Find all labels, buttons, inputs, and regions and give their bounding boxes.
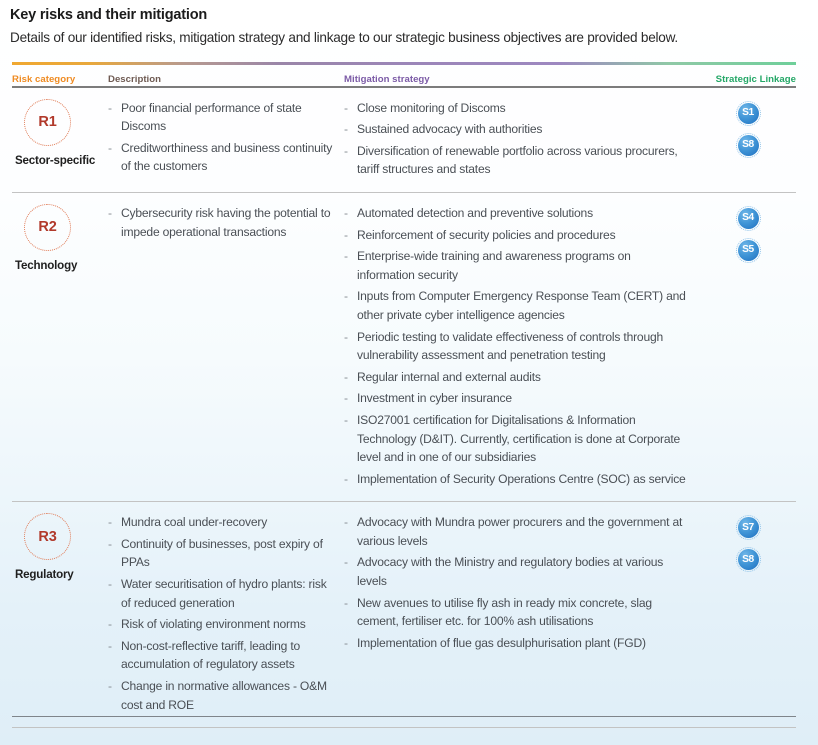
- bullet-dash-icon: -: [108, 637, 112, 656]
- bullet-dash-icon: -: [108, 139, 112, 158]
- bullet-dash-icon: -: [344, 368, 348, 387]
- list-item-text: Regular internal and external audits: [357, 370, 541, 384]
- column-header-strategic-linkage: Strategic Linkage: [700, 74, 796, 86]
- list-item: -Water securitisation of hydro plants: r…: [108, 575, 338, 612]
- strategic-objective-badge[interactable]: S8: [736, 547, 761, 572]
- risk-category-label: Technology: [14, 258, 108, 273]
- list-item-text: Continuity of businesses, post expiry of…: [121, 537, 323, 570]
- list-item-text: Advocacy with the Ministry and regulator…: [357, 555, 663, 588]
- risk-code-badge: R1: [24, 99, 71, 146]
- list-item: -Inputs from Computer Emergency Response…: [344, 287, 690, 324]
- bullet-dash-icon: -: [344, 553, 348, 572]
- list-item-text: Reinforcement of security policies and p…: [357, 228, 615, 242]
- badge-disc: S4: [738, 208, 759, 229]
- strategic-linkage-cell: S1S8: [700, 99, 796, 165]
- list-item-text: Risk of violating environment norms: [121, 617, 306, 631]
- strategic-objective-badge[interactable]: S5: [736, 238, 761, 263]
- list-item-text: Diversification of renewable portfolio a…: [357, 144, 678, 177]
- list-item: -Advocacy with Mundra power procurers an…: [344, 513, 690, 550]
- risk-category-cell: R3Regulatory: [12, 513, 108, 582]
- list-item: -Non-cost-reflective tariff, leading to …: [108, 637, 338, 674]
- badge-label: S4: [742, 213, 754, 223]
- risk-code-label: R1: [38, 114, 56, 130]
- badge-disc: S7: [738, 517, 759, 538]
- mitigation-cell: -Close monitoring of Discoms-Sustained a…: [344, 99, 700, 182]
- risk-code-label: R3: [38, 529, 56, 545]
- bullet-dash-icon: -: [108, 615, 112, 634]
- bullet-dash-icon: -: [344, 120, 348, 139]
- list-item-text: Mundra coal under-recovery: [121, 515, 267, 529]
- bullet-dash-icon: -: [108, 513, 112, 532]
- list-item: -Periodic testing to validate effectiven…: [344, 328, 690, 365]
- list-item-text: Investment in cyber insurance: [357, 391, 512, 405]
- list-item: -Advocacy with the Ministry and regulato…: [344, 553, 690, 590]
- badge-label: S1: [742, 108, 754, 118]
- list-item-text: Enterprise-wide training and awareness p…: [357, 249, 631, 282]
- list-item: -New avenues to utilise fly ash in ready…: [344, 594, 690, 631]
- list-item-text: Cybersecurity risk having the potential …: [121, 206, 330, 239]
- table-row: R1Sector-specific-Poor financial perform…: [12, 88, 796, 192]
- list-item: -Cybersecurity risk having the potential…: [108, 204, 338, 241]
- bullet-dash-icon: -: [108, 575, 112, 594]
- mitigation-cell: -Advocacy with Mundra power procurers an…: [344, 513, 700, 655]
- list-item: -Continuity of businesses, post expiry o…: [108, 535, 338, 572]
- bullet-dash-icon: -: [344, 99, 348, 118]
- list-item: -ISO27001 certification for Digitalisati…: [344, 411, 690, 467]
- bullet-dash-icon: -: [344, 142, 348, 161]
- mitigation-list: -Automated detection and preventive solu…: [344, 204, 690, 488]
- description-list: -Cybersecurity risk having the potential…: [108, 204, 338, 241]
- risk-category-cell: R2Technology: [12, 204, 108, 273]
- list-item: -Reinforcement of security policies and …: [344, 226, 690, 245]
- list-item: -Implementation of flue gas desulphurisa…: [344, 634, 690, 653]
- mitigation-cell: -Automated detection and preventive solu…: [344, 204, 700, 491]
- description-cell: -Poor financial performance of state Dis…: [108, 99, 344, 179]
- bullet-dash-icon: -: [344, 247, 348, 266]
- risk-table: Risk category Description Mitigation str…: [12, 62, 796, 728]
- strategic-objective-badge[interactable]: S7: [736, 515, 761, 540]
- list-item: -Change in normative allowances - O&M co…: [108, 677, 338, 714]
- column-header-description: Description: [108, 74, 344, 86]
- description-cell: -Cybersecurity risk having the potential…: [108, 204, 344, 244]
- bullet-dash-icon: -: [344, 634, 348, 653]
- list-item: -Regular internal and external audits: [344, 368, 690, 387]
- bullet-dash-icon: -: [344, 470, 348, 489]
- badge-label: S7: [742, 523, 754, 533]
- list-item-text: Close monitoring of Discoms: [357, 101, 506, 115]
- list-item: -Creditworthiness and business continuit…: [108, 139, 338, 176]
- table-row: R2Technology-Cybersecurity risk having t…: [12, 193, 796, 501]
- list-item-text: Sustained advocacy with authorities: [357, 122, 542, 136]
- bullet-dash-icon: -: [344, 287, 348, 306]
- badge-disc: S8: [738, 549, 759, 570]
- document-page: Key risks and their mitigation Details o…: [0, 0, 818, 745]
- bullet-dash-icon: -: [344, 328, 348, 347]
- risk-code-badge: R2: [24, 204, 71, 251]
- list-item: -Risk of violating environment norms: [108, 615, 338, 634]
- list-item: -Implementation of Security Operations C…: [344, 470, 690, 489]
- bullet-dash-icon: -: [344, 204, 348, 223]
- bullet-dash-icon: -: [344, 594, 348, 613]
- strategic-objective-badge[interactable]: S1: [736, 101, 761, 126]
- footer-rule: [12, 716, 796, 717]
- badge-disc: S8: [738, 135, 759, 156]
- list-item-text: Non-cost-reflective tariff, leading to a…: [121, 639, 300, 672]
- badge-label: S8: [742, 555, 754, 565]
- bullet-dash-icon: -: [108, 99, 112, 118]
- risk-category-label: Regulatory: [14, 567, 108, 582]
- mitigation-list: -Close monitoring of Discoms-Sustained a…: [344, 99, 690, 179]
- strategic-linkage-cell: S4S5: [700, 204, 796, 270]
- risk-rows-container: R1Sector-specific-Poor financial perform…: [12, 88, 796, 729]
- bullet-dash-icon: -: [108, 677, 112, 696]
- row-separator: [12, 727, 796, 728]
- risk-code-badge: R3: [24, 513, 71, 560]
- list-item: -Close monitoring of Discoms: [344, 99, 690, 118]
- list-item-text: Change in normative allowances - O&M cos…: [121, 679, 327, 712]
- mitigation-list: -Advocacy with Mundra power procurers an…: [344, 513, 690, 652]
- badge-disc: S1: [738, 103, 759, 124]
- description-list: -Poor financial performance of state Dis…: [108, 99, 338, 176]
- bullet-dash-icon: -: [344, 411, 348, 430]
- badge-label: S5: [742, 245, 754, 255]
- strategic-linkage-cell: S7S8: [700, 513, 796, 579]
- list-item: -Mundra coal under-recovery: [108, 513, 338, 532]
- list-item-text: Creditworthiness and business continuity…: [121, 141, 332, 174]
- list-item: -Investment in cyber insurance: [344, 389, 690, 408]
- list-item-text: Water securitisation of hydro plants: ri…: [121, 577, 327, 610]
- list-item-text: ISO27001 certification for Digitalisatio…: [357, 413, 680, 464]
- column-header-risk-category: Risk category: [12, 74, 108, 86]
- list-item-text: Automated detection and preventive solut…: [357, 206, 593, 220]
- badge-disc: S5: [738, 240, 759, 261]
- list-item: -Enterprise-wide training and awareness …: [344, 247, 690, 284]
- list-item-text: New avenues to utilise fly ash in ready …: [357, 596, 652, 629]
- list-item-text: Implementation of flue gas desulphurisat…: [357, 636, 646, 650]
- risk-category-label: Sector-specific: [14, 153, 108, 168]
- list-item-text: Implementation of Security Operations Ce…: [357, 472, 686, 486]
- list-item-text: Poor financial performance of state Disc…: [121, 101, 302, 134]
- bullet-dash-icon: -: [108, 535, 112, 554]
- bullet-dash-icon: -: [344, 389, 348, 408]
- list-item-text: Advocacy with Mundra power procurers and…: [357, 515, 682, 548]
- title-block: Key risks and their mitigation Details o…: [10, 6, 800, 47]
- risk-code-label: R2: [38, 219, 56, 235]
- list-item: -Diversification of renewable portfolio …: [344, 142, 690, 179]
- list-item: -Sustained advocacy with authorities: [344, 120, 690, 139]
- list-item-text: Periodic testing to validate effectivene…: [357, 330, 663, 363]
- column-header-mitigation-strategy: Mitigation strategy: [344, 74, 700, 86]
- list-item: -Automated detection and preventive solu…: [344, 204, 690, 223]
- list-item: -Poor financial performance of state Dis…: [108, 99, 338, 136]
- description-list: -Mundra coal under-recovery-Continuity o…: [108, 513, 338, 714]
- risk-category-cell: R1Sector-specific: [12, 99, 108, 168]
- table-header-row: Risk category Description Mitigation str…: [12, 65, 796, 86]
- strategic-objective-badge[interactable]: S4: [736, 206, 761, 231]
- page-subtitle: Details of our identified risks, mitigat…: [10, 28, 800, 47]
- badge-label: S8: [742, 140, 754, 150]
- bullet-dash-icon: -: [344, 513, 348, 532]
- description-cell: -Mundra coal under-recovery-Continuity o…: [108, 513, 344, 717]
- bullet-dash-icon: -: [108, 204, 112, 223]
- bullet-dash-icon: -: [344, 226, 348, 245]
- strategic-objective-badge[interactable]: S8: [736, 133, 761, 158]
- page-title: Key risks and their mitigation: [10, 6, 800, 24]
- table-row: R3Regulatory-Mundra coal under-recovery-…: [12, 502, 796, 727]
- list-item-text: Inputs from Computer Emergency Response …: [357, 289, 686, 322]
